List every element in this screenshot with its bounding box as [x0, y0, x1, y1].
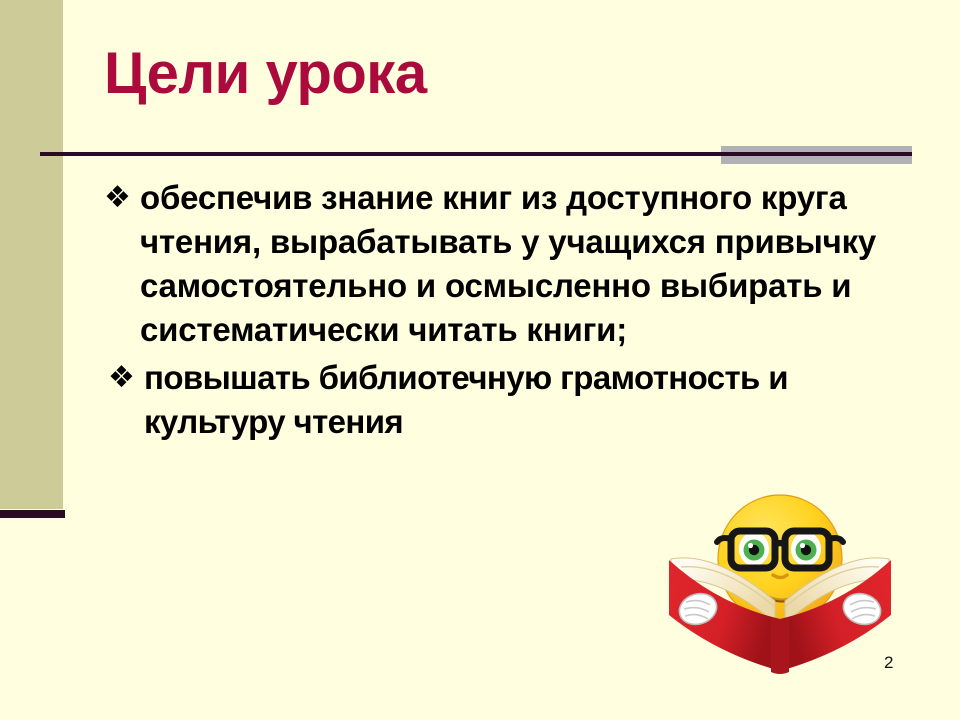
- list-item: ❖ повышать библиотечную грамотность и ку…: [104, 356, 916, 444]
- page-title: Цели урока: [104, 44, 427, 105]
- list-item-text: повышать библиотечную грамотность и куль…: [144, 356, 916, 444]
- smiley-face: [718, 495, 842, 623]
- left-accent-bar: [0, 0, 63, 509]
- diamond-bullet-icon: ❖: [104, 356, 144, 400]
- slide-canvas: Цели урока ❖ обеспечив знание книг из до…: [0, 0, 960, 720]
- list-item-text: обеспечив знание книг из доступного круг…: [140, 176, 916, 352]
- page-number: 2: [884, 653, 893, 673]
- divider-line: [40, 152, 912, 156]
- smiley-reading-book-illustration: [655, 487, 905, 677]
- left-accent-bar-foot: [0, 510, 65, 518]
- bullet-list: ❖ обеспечив знание книг из доступного кр…: [104, 176, 916, 448]
- list-item: ❖ обеспечив знание книг из доступного кр…: [104, 176, 916, 352]
- diamond-bullet-icon: ❖: [104, 176, 140, 220]
